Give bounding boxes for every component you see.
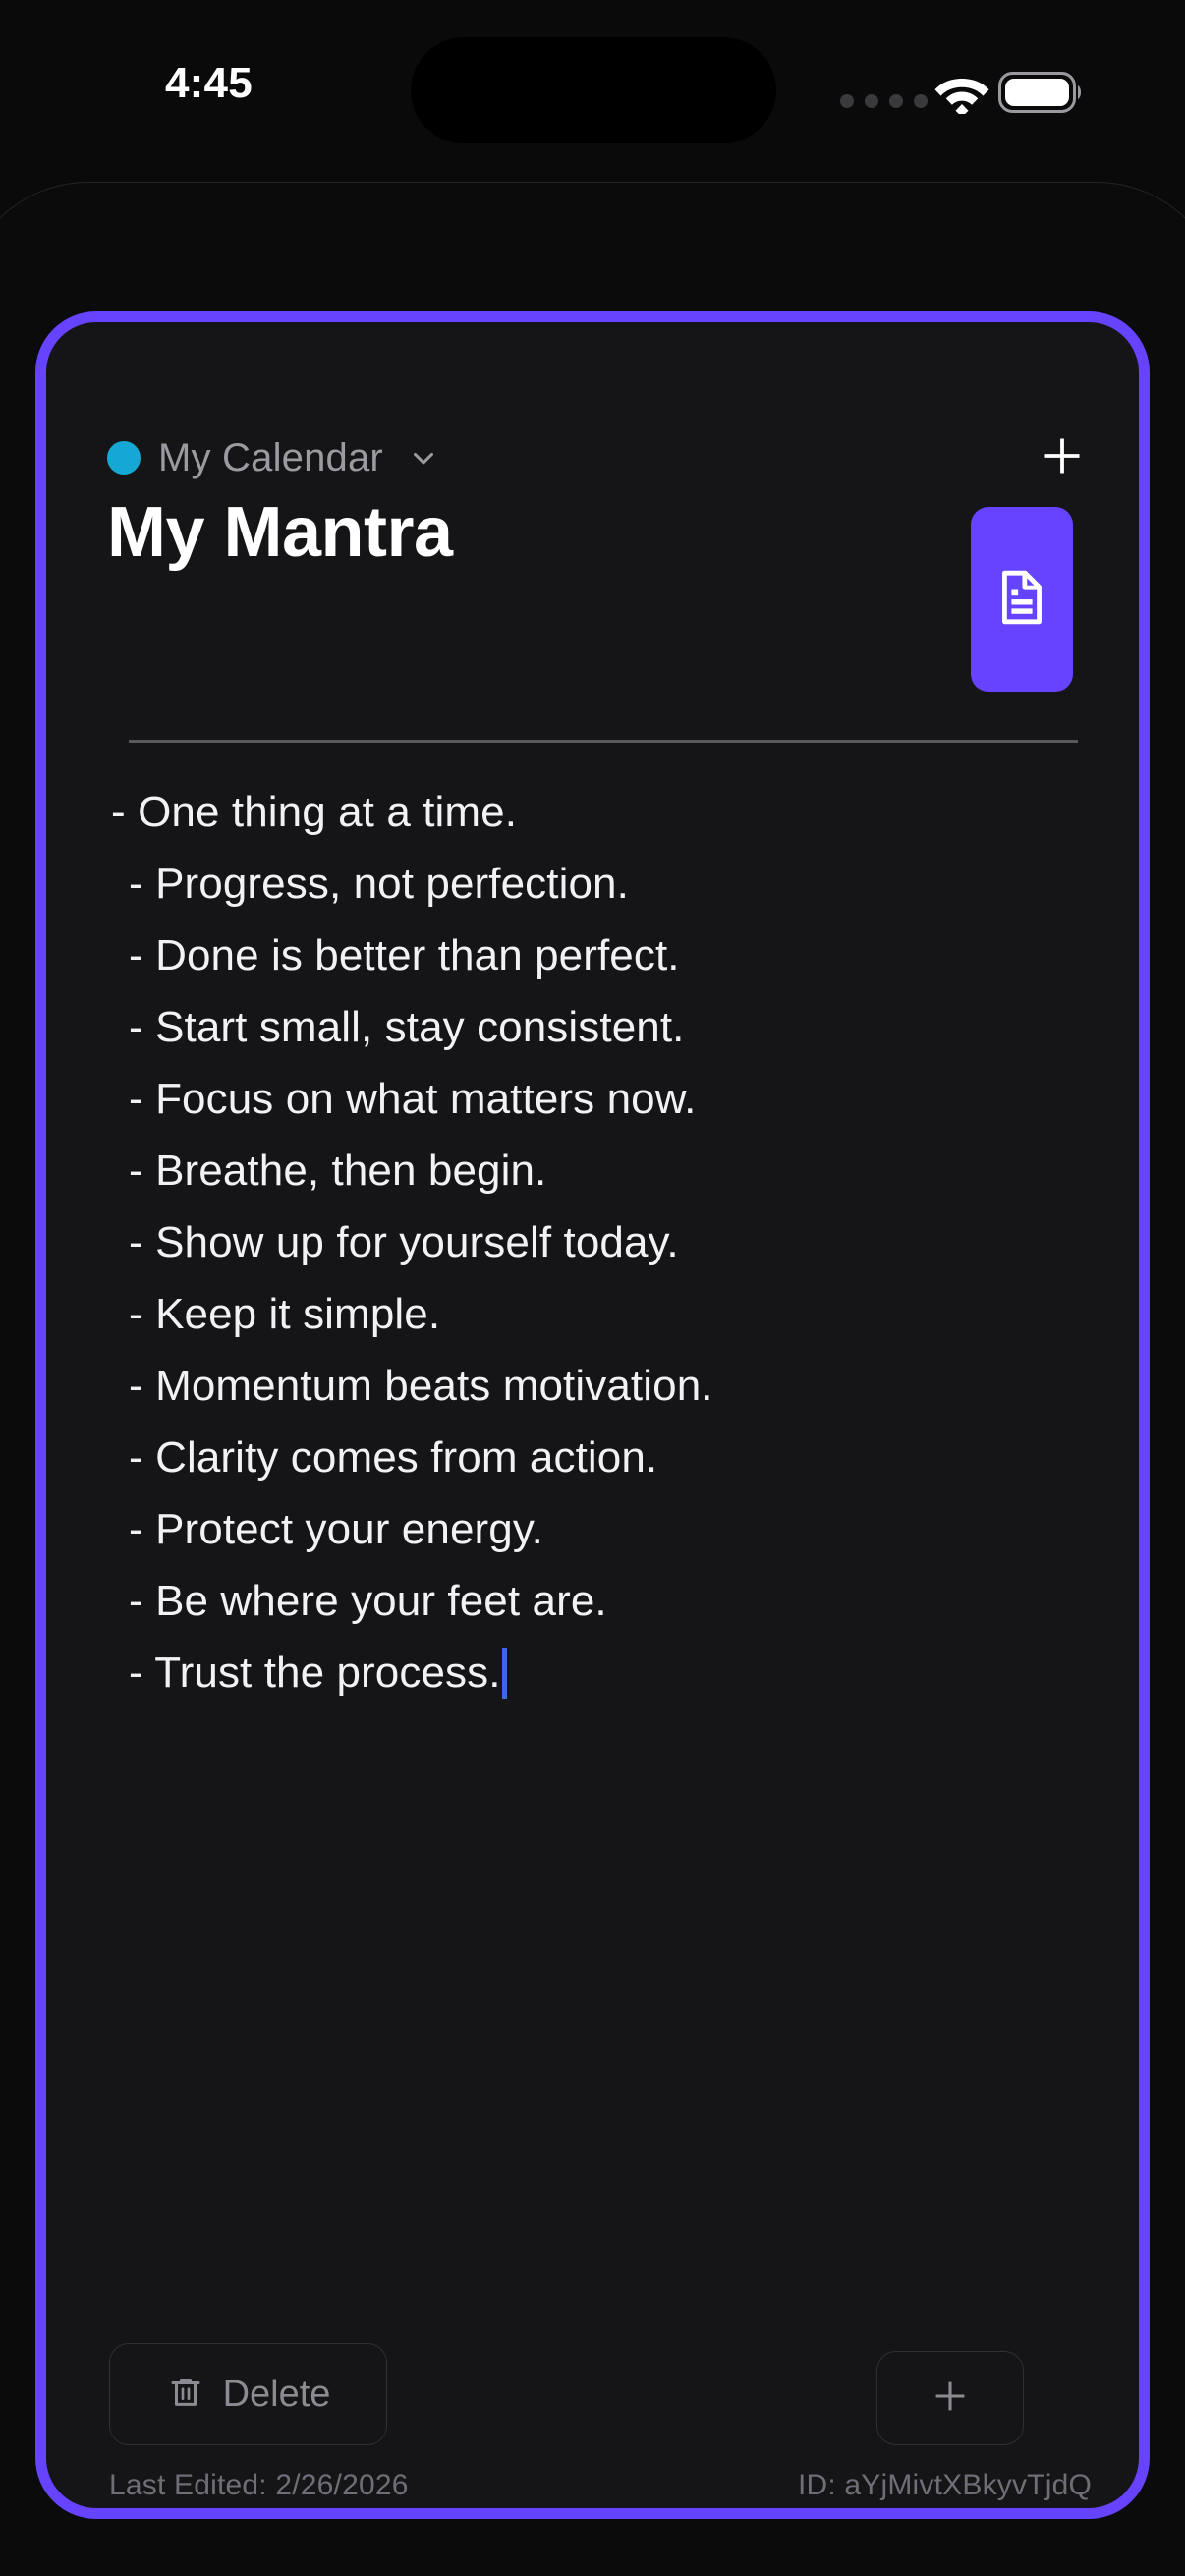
note-body-line: - One thing at a time.: [111, 776, 1094, 848]
chevron-down-icon[interactable]: [407, 441, 440, 475]
document-badge[interactable]: [971, 507, 1073, 692]
delete-button[interactable]: Delete: [109, 2343, 387, 2445]
plus-icon: [1039, 432, 1086, 484]
note-body-line: - Trust the process.: [111, 1637, 1094, 1708]
note-header: My Calendar: [107, 430, 1090, 485]
note-body-line: - Done is better than perfect.: [111, 920, 1094, 991]
dynamic-island: [411, 37, 776, 143]
note-body-editor[interactable]: - One thing at a time.- Progress, not pe…: [111, 776, 1094, 1708]
note-body-line: - Keep it simple.: [111, 1278, 1094, 1350]
last-edited-label: Last Edited: 2/26/2026: [109, 2469, 409, 2502]
note-body-line: - Momentum beats motivation.: [111, 1350, 1094, 1422]
header-divider: [129, 740, 1078, 743]
note-body-line: - Be where your feet are.: [111, 1565, 1094, 1637]
note-body-line: - Clarity comes from action.: [111, 1422, 1094, 1493]
note-body-line: - Protect your energy.: [111, 1493, 1094, 1565]
note-card: My Calendar My Mantra: [35, 311, 1150, 2519]
status-bar-time: 4:45: [165, 59, 253, 108]
delete-label: Delete: [223, 2374, 331, 2416]
plus-icon: [929, 2375, 972, 2423]
trash-icon: [166, 2373, 205, 2417]
document-icon: [991, 567, 1052, 633]
note-body-line: - Breathe, then begin.: [111, 1135, 1094, 1206]
note-body-line: - Progress, not perfection.: [111, 848, 1094, 920]
add-item-button[interactable]: [876, 2351, 1024, 2445]
note-body-line: - Show up for yourself today.: [111, 1206, 1094, 1278]
calendar-color-dot: [107, 441, 141, 475]
note-body-line: - Focus on what matters now.: [111, 1063, 1094, 1135]
calendar-name-label: My Calendar: [158, 436, 383, 480]
calendar-selector[interactable]: My Calendar: [107, 436, 440, 480]
note-body-line: - Start small, stay consistent.: [111, 991, 1094, 1063]
note-footer: Last Edited: 2/26/2026 ID: aYjMivtXBkyvT…: [109, 2469, 1092, 2502]
status-bar: 4:45: [0, 0, 1185, 157]
wifi-icon: [932, 71, 991, 119]
add-note-button[interactable]: [1035, 430, 1090, 485]
text-cursor: [502, 1648, 507, 1699]
note-title: My Mantra: [107, 497, 453, 568]
signal-dots-icon: [840, 94, 928, 108]
note-id-label: ID: aYjMivtXBkyvTjdQ: [798, 2469, 1092, 2502]
phone-screen: 4:45 My Calendar: [0, 0, 1185, 2576]
battery-full-icon: [998, 72, 1083, 118]
